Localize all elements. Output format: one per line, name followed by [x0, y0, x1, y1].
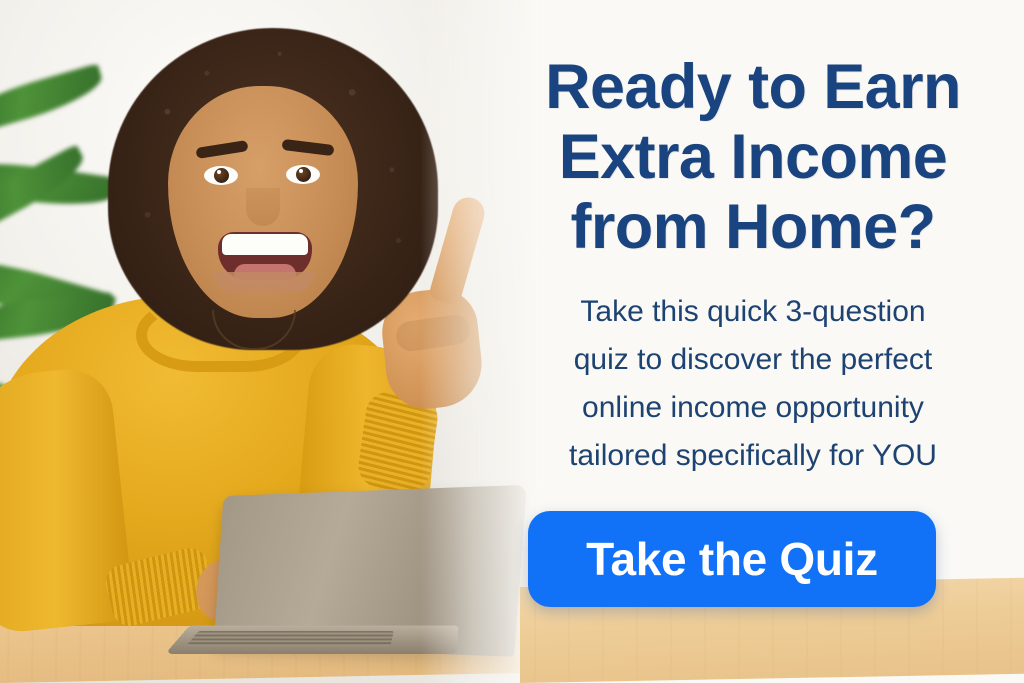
take-the-quiz-button[interactable]: Take the Quiz — [528, 511, 936, 607]
page-title: Ready to Earn Extra Income from Home? — [545, 52, 961, 262]
lower-lip — [214, 272, 314, 292]
teeth — [222, 234, 308, 255]
subhead-line-3: online income opportunity — [582, 391, 924, 424]
headline-line-1: Ready to Earn — [545, 52, 961, 122]
laptop-keyboard-base — [165, 625, 458, 653]
laptop-keys — [186, 631, 394, 646]
nose — [246, 188, 280, 226]
eye-left — [204, 166, 238, 185]
eye-right — [286, 165, 320, 184]
promo-banner: Ready to Earn Extra Income from Home? Ta… — [0, 0, 1024, 683]
subheadline: Take this quick 3-question quiz to disco… — [569, 288, 937, 480]
hero-photo — [0, 0, 540, 683]
iris-left — [214, 168, 229, 183]
subhead-line-4: tailored specifically for YOU — [569, 439, 937, 472]
subhead-line-1: Take this quick 3-question — [580, 295, 925, 328]
iris-right — [296, 167, 311, 182]
subhead-line-2: quiz to discover the perfect — [574, 343, 933, 376]
headline-line-2: Extra Income — [559, 122, 947, 192]
headline-line-3: from Home? — [570, 192, 935, 262]
